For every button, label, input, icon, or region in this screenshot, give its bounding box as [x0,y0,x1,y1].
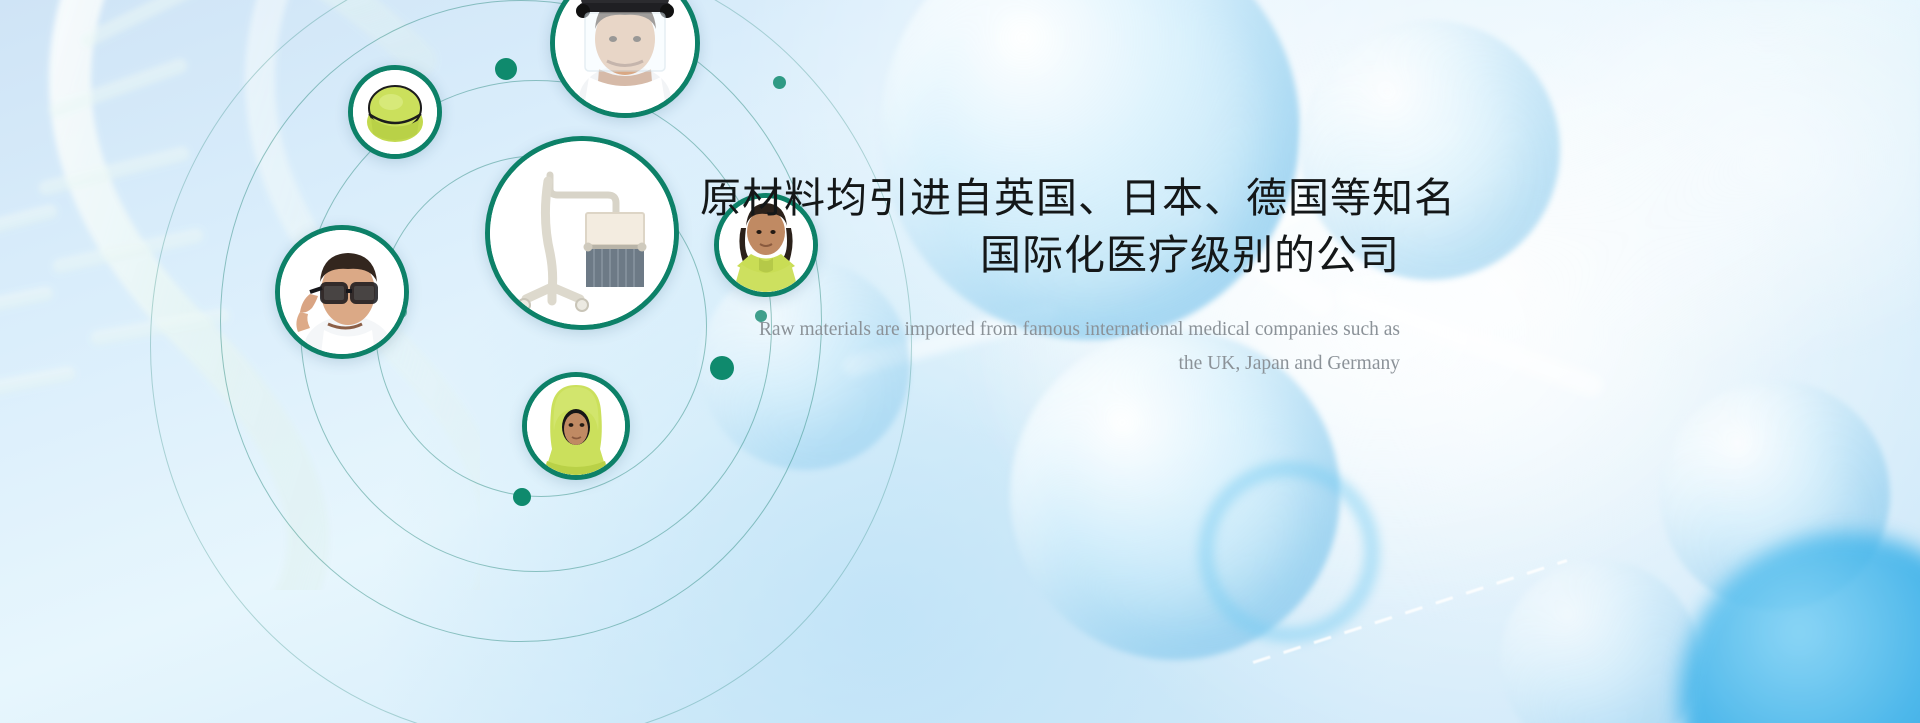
subtitle-line-1: Raw materials are imported from famous i… [759,319,1400,340]
orbit-dot [773,76,786,89]
bubble-image [490,141,674,325]
orbit-dot [495,58,517,80]
bubble-image [527,377,625,475]
bubble-image [353,70,437,154]
bubble-mobile-radiation-shield-stand[interactable] [485,136,679,330]
headline-line-1: 原材料均引进自英国、日本、德国等知名 [700,174,1456,222]
bubble-image [280,230,404,354]
bubble-image [555,0,695,113]
orbit-dot [513,488,531,506]
headline-line-2: 国际化医疗级别的公司 [700,227,1400,284]
subtitle-line-2: the UK, Japan and Germany [700,347,1400,381]
page-subtitle: Raw materials are imported from famous i… [700,313,1400,381]
bubble-radiation-protection-hood[interactable] [522,372,630,480]
page-title: 原材料均引进自英国、日本、德国等知名 国际化医疗级别的公司 [700,170,1400,283]
molecule-ring [1198,461,1380,643]
hero-copy: 原材料均引进自英国、日本、德国等知名 国际化医疗级别的公司 Raw materi… [700,170,1400,381]
bubble-leaded-eyewear-glasses[interactable] [275,225,409,359]
bubble-protective-cap[interactable] [348,65,442,159]
hero-banner: 原材料均引进自英国、日本、德国等知名 国际化医疗级别的公司 Raw materi… [0,0,1920,723]
